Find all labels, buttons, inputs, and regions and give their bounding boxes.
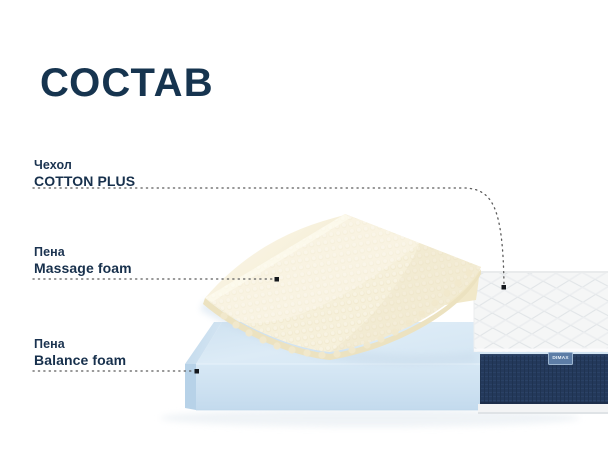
leader-dot-cover	[502, 285, 507, 290]
label-massage-foam-material-ru: Пена	[34, 245, 132, 260]
label-cover: Чехол COTTON PLUS	[34, 158, 135, 190]
cover-base-strip	[478, 404, 608, 414]
brand-tag-label: DIMAX	[552, 356, 568, 361]
brand-tag: DIMAX	[548, 352, 573, 365]
layer-cover	[474, 272, 608, 352]
label-balance-foam-material-en: Balance foam	[34, 352, 126, 369]
page-title: СОСТАВ	[40, 63, 214, 103]
leader-dot-balance-foam	[195, 369, 200, 374]
label-cover-material-ru: Чехол	[34, 158, 135, 173]
label-balance-foam: Пена Balance foam	[34, 337, 126, 369]
leader-dot-massage-foam	[275, 277, 280, 282]
label-balance-foam-material-ru: Пена	[34, 337, 126, 352]
label-massage-foam-material-en: Massage foam	[34, 260, 132, 277]
composition-infographic: СОСТАВ Чехол COTTON PLUS Пена Massage fo…	[0, 0, 608, 456]
label-massage-foam: Пена Massage foam	[34, 245, 132, 277]
label-cover-material-en: COTTON PLUS	[34, 173, 135, 190]
cover-side-band	[480, 354, 608, 404]
